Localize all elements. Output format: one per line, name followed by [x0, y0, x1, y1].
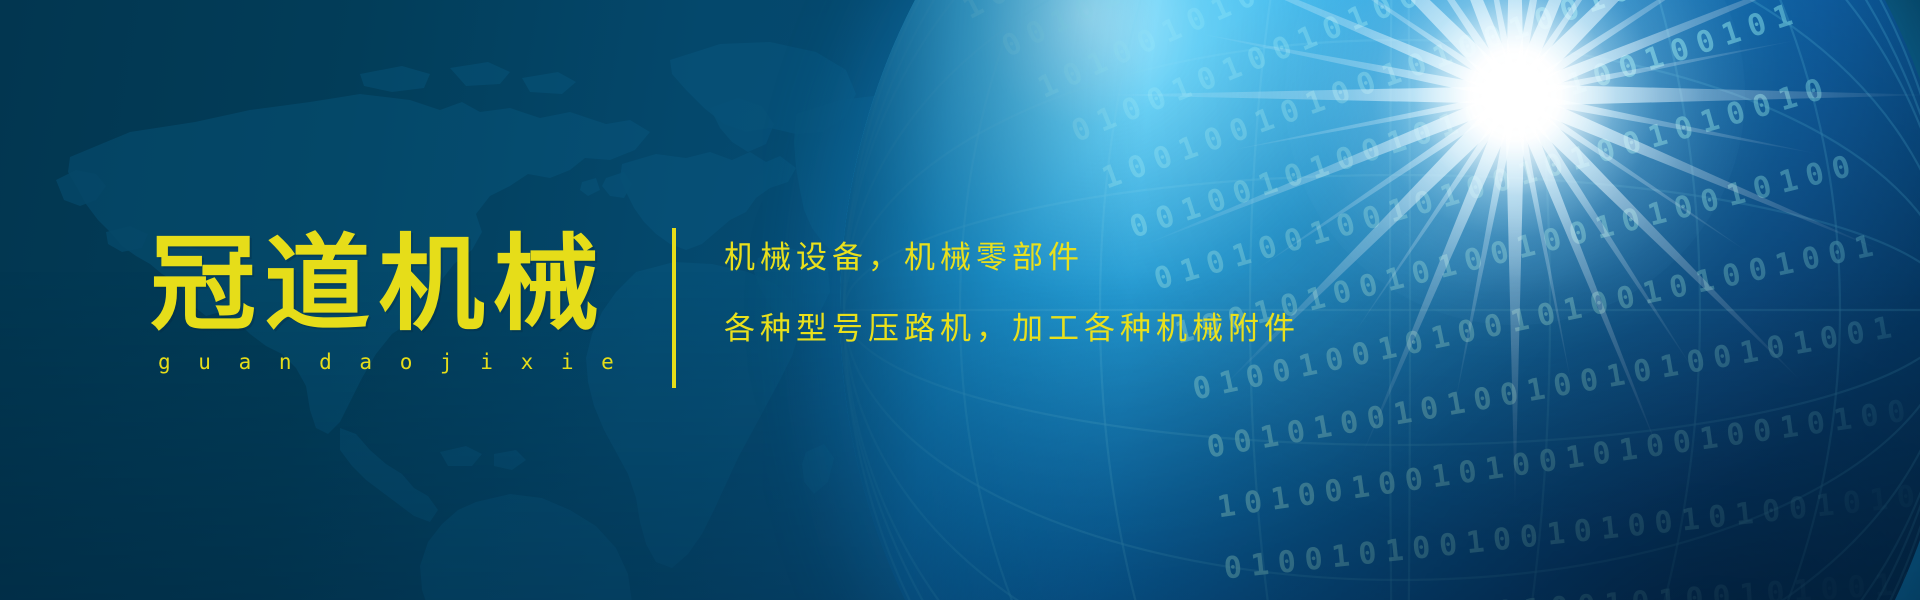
brand-name-cn: 冠道机械	[150, 232, 650, 336]
tagline-primary: 机械设备，机械零部件	[724, 241, 1484, 275]
hero-banner: 01001001010010011001010010 1001010010010…	[0, 0, 1920, 600]
vertical-divider	[672, 228, 676, 388]
banner-content: 冠道机械 g u a n d a o j i x i e 机械设备，机械零部件 …	[0, 0, 1920, 600]
tagline-secondary: 各种型号压路机，加工各种机械附件	[724, 312, 1484, 346]
brand-name-pinyin: g u a n d a o j i x i e	[150, 350, 640, 374]
brand-logo[interactable]: 冠道机械 g u a n d a o j i x i e	[150, 232, 640, 374]
tagline-group: 机械设备，机械零部件 各种型号压路机，加工各种机械附件	[724, 241, 1484, 346]
